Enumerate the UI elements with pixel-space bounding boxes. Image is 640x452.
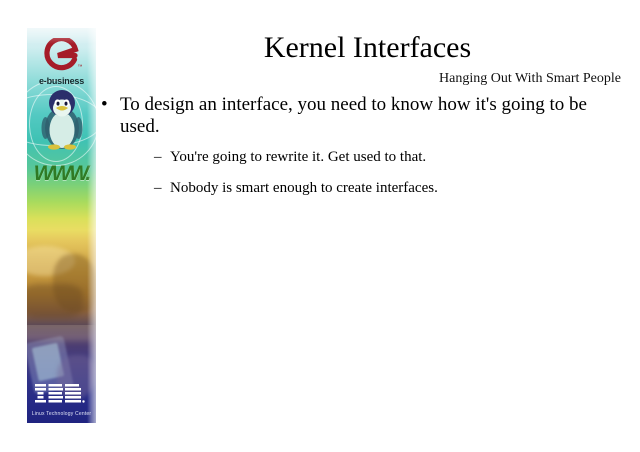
ibm-e-business-banner: ™ e-business xyxy=(27,28,96,423)
ibm-logo-icon xyxy=(34,383,90,405)
ibm-tagline: Linux Technology Center xyxy=(27,411,96,417)
dash-marker-icon: – xyxy=(154,179,162,197)
sub-bullet-item: – Nobody is smart enough to create inter… xyxy=(154,179,624,197)
dash-marker-icon: – xyxy=(154,148,162,166)
bullet-marker-icon: • xyxy=(101,94,108,116)
sub-bullet-list: – You're going to rewrite it. Get used t… xyxy=(154,148,624,197)
e-business-e-icon xyxy=(44,38,80,72)
www-wordmark: WWW. xyxy=(27,162,96,186)
sub-bullet-item: – You're going to rewrite it. Get used t… xyxy=(154,148,624,166)
e-business-label: e-business xyxy=(27,76,96,86)
slide-body: • To design an interface, you need to kn… xyxy=(99,94,624,210)
slide-title: Kernel Interfaces xyxy=(110,32,625,64)
banner-band-gold xyxy=(27,240,96,325)
sub-bullet-text: You're going to rewrite it. Get used to … xyxy=(170,149,426,165)
slide-canvas: ™ e-business xyxy=(0,0,640,452)
bullet-item: • To design an interface, you need to kn… xyxy=(99,94,624,197)
tux-penguin-icon xyxy=(41,88,83,150)
trademark-icon: ™ xyxy=(78,64,83,70)
ibm-logo-block: Linux Technology Center xyxy=(27,383,96,417)
banner-band-teal: ™ e-business xyxy=(27,28,96,168)
photo-shadow xyxy=(27,284,83,318)
slide-subtitle: Hanging Out With Smart People xyxy=(439,71,621,87)
photo-highlight xyxy=(27,325,93,341)
bullet-text: To design an interface, you need to know… xyxy=(120,94,587,137)
sub-bullet-text: Nobody is smart enough to create interfa… xyxy=(170,180,438,196)
